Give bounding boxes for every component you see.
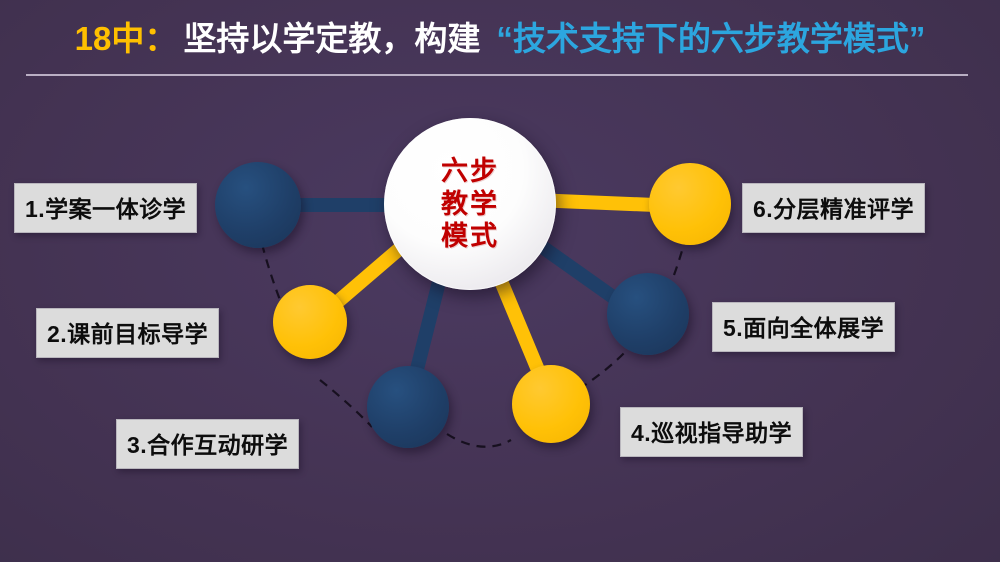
node-step-6[interactable]: [649, 163, 731, 245]
chip-step-2[interactable]: 2.课前目标导学: [36, 308, 219, 358]
title-brand: 18中：: [75, 12, 178, 60]
six-step-diagram: 六步 教学 模式 1.学案一体诊学 2.课前目标导学 3.合作互动研学 4.巡视…: [0, 82, 1000, 562]
title-main-text: 坚持以学定教，构建: [183, 12, 480, 60]
chip-step-6-label: 6.分层精准评学: [753, 196, 914, 222]
chip-step-1[interactable]: 1.学案一体诊学: [14, 183, 197, 233]
chip-step-2-label: 2.课前目标导学: [47, 321, 208, 347]
chip-step-3[interactable]: 3.合作互动研学: [116, 419, 299, 469]
dashed-link-3-4: [447, 434, 511, 447]
dashed-link-4-5: [579, 350, 627, 389]
node-step-2[interactable]: [273, 285, 347, 359]
hub-line-3: 模式: [441, 220, 499, 253]
slide-canvas: 18中：坚持以学定教，构建“技术支持下的六步教学模式” 六步: [0, 0, 1000, 562]
hub-line-1: 六步: [441, 155, 499, 188]
node-step-5[interactable]: [607, 273, 689, 355]
node-step-4[interactable]: [512, 365, 590, 443]
chip-step-4-label: 4.巡视指导助学: [631, 420, 792, 446]
chip-step-5-label: 5.面向全体展学: [723, 315, 884, 341]
chip-step-3-label: 3.合作互动研学: [127, 432, 288, 458]
chip-step-1-label: 1.学案一体诊学: [25, 196, 186, 222]
center-hub[interactable]: 六步 教学 模式: [384, 118, 556, 290]
title-quoted-text: “技术支持下的六步教学模式”: [496, 12, 925, 60]
slide-title: 18中：坚持以学定教，构建“技术支持下的六步教学模式”: [0, 12, 1000, 64]
chip-step-6[interactable]: 6.分层精准评学: [742, 183, 925, 233]
title-divider: [26, 74, 968, 76]
node-step-1[interactable]: [215, 162, 301, 248]
hub-line-2: 教学: [441, 188, 499, 221]
chip-step-4[interactable]: 4.巡视指导助学: [620, 407, 803, 457]
chip-step-5[interactable]: 5.面向全体展学: [712, 302, 895, 352]
node-step-3[interactable]: [367, 366, 449, 448]
dashed-link-2-3: [320, 380, 372, 427]
